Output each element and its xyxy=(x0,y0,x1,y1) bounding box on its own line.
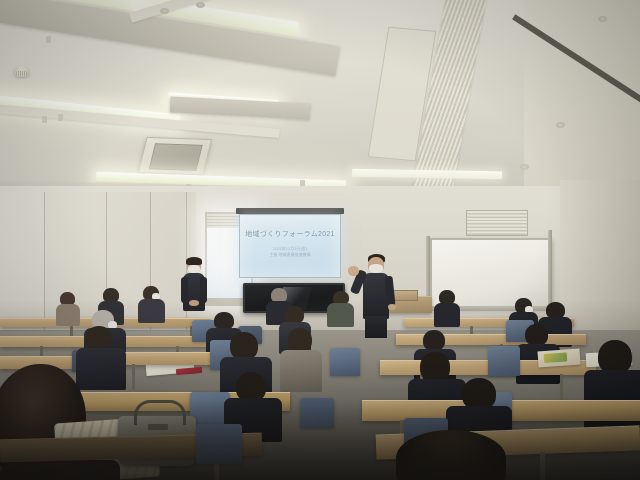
speaker-hand-raised xyxy=(348,266,359,276)
table-leg-8 xyxy=(132,364,135,390)
ceiling-spot-3 xyxy=(598,16,607,22)
ceiling-spot-2 xyxy=(196,2,205,8)
light-clip-1 xyxy=(46,36,51,43)
attendee-head xyxy=(420,352,450,382)
attendee-body xyxy=(76,348,126,390)
moderator-hands xyxy=(189,300,199,306)
moderator-hair xyxy=(186,257,202,265)
chair-row3-2[interactable] xyxy=(330,348,360,376)
attendee-body xyxy=(56,304,80,326)
projection-screen: 地域づくりフォーラム2021 2021年12月3日(金) 主催 地域連携推進機構 xyxy=(239,214,341,278)
smoke-detector-icon xyxy=(14,66,29,77)
ceiling-ac-cassette xyxy=(138,137,212,175)
attendee-head xyxy=(598,340,632,374)
ceiling-spot-1 xyxy=(160,8,169,14)
moderator-mask xyxy=(188,265,200,273)
speaker-legs xyxy=(365,316,387,338)
seminar-room-photo: 地域づくりフォーラム2021 2021年12月3日(金) 主催 地域連携推進機構 xyxy=(0,0,640,480)
slide-subtitle-line2: 主催 地域連携推進機構 xyxy=(269,252,310,258)
ceiling-spot-5 xyxy=(520,164,529,170)
ceiling-beam-2 xyxy=(170,96,311,119)
attendee-head xyxy=(288,328,312,352)
attendee-body xyxy=(280,350,322,392)
brochure xyxy=(537,349,580,368)
ceiling xyxy=(0,0,640,208)
speaker-hand-right xyxy=(388,304,396,310)
chair-row3-3[interactable] xyxy=(488,346,520,376)
attendee-head xyxy=(230,332,258,360)
ceiling-light-6 xyxy=(352,169,502,180)
ceiling-panel-right xyxy=(524,0,640,190)
attendee-body xyxy=(327,303,354,327)
foreground-shadow xyxy=(0,400,640,480)
moderator-arm-right xyxy=(200,277,207,303)
slide-subtitle: 2021年12月3日(金) 主催 地域連携推進機構 xyxy=(269,246,310,258)
light-clip-3 xyxy=(42,116,47,123)
moderator-arm-left xyxy=(181,277,188,303)
attendee-head xyxy=(525,324,548,346)
window-upper-right xyxy=(466,210,528,236)
table-leg-10 xyxy=(560,374,563,400)
attendee-head xyxy=(423,330,445,351)
speaker-mask xyxy=(369,264,383,273)
attendee-body xyxy=(434,303,460,327)
light-clip-4 xyxy=(58,114,63,121)
brochure-image xyxy=(544,352,568,363)
attendee-body xyxy=(138,299,165,323)
attendee-head xyxy=(86,326,112,350)
ceiling-spot-4 xyxy=(556,122,565,128)
slide-title: 地域づくりフォーラム2021 xyxy=(245,229,335,239)
